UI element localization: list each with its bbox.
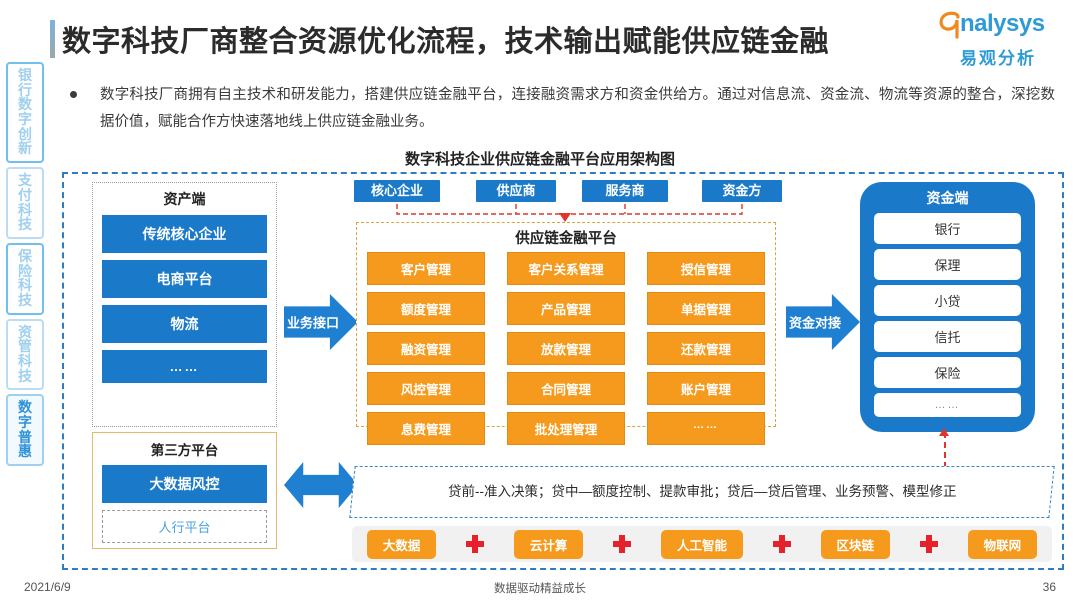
business-interface-label: 业务接口 — [284, 313, 342, 332]
module-customer-management[interactable]: 客户管理 — [367, 252, 485, 285]
sidebar-vertical-tabs[interactable]: 银行数字创新 支付科技 保险科技 资管科技 数字普惠 — [6, 62, 48, 470]
bullet-icon — [70, 91, 77, 98]
module-product-management[interactable]: 产品管理 — [507, 292, 625, 325]
third-party-pboc-platform[interactable]: 人行平台 — [102, 510, 267, 543]
tech-chip-bigdata[interactable]: 大数据 — [367, 530, 437, 559]
module-quota-management[interactable]: 额度管理 — [367, 292, 485, 325]
module-more[interactable]: …… — [647, 412, 765, 445]
plus-icon — [466, 535, 484, 553]
third-party-title: 第三方平台 — [102, 439, 267, 459]
lead-text: 数字科技厂商拥有自主技术和研发能力，搭建供应链金融平台，连接融资需求方和资金供给… — [100, 82, 1055, 136]
loan-lifecycle-text: 贷前--准入决策；贷中—额度控制、提款审批；贷后—贷后管理、业务预警、模型修正 — [434, 482, 971, 502]
tech-chip-blockchain[interactable]: 区块链 — [821, 530, 891, 559]
brand-wordmark: nalysys — [960, 10, 1045, 38]
plus-icon — [613, 535, 631, 553]
module-contract-management[interactable]: 合同管理 — [507, 372, 625, 405]
asset-item-more[interactable]: …… — [102, 350, 267, 383]
asset-side-title: 资产端 — [102, 189, 267, 209]
fund-item-trust[interactable]: 信托 — [874, 321, 1021, 352]
fund-item-insurance[interactable]: 保险 — [874, 357, 1021, 388]
third-party-bigdata-riskcontrol[interactable]: 大数据风控 — [102, 465, 267, 503]
module-disbursement-management[interactable]: 放款管理 — [507, 332, 625, 365]
module-repayment-management[interactable]: 还款管理 — [647, 332, 765, 365]
sidebar-item-label: 数字普惠 — [8, 400, 42, 459]
sidebar-item-label: 保险科技 — [8, 249, 42, 308]
role-connector-lines — [354, 202, 784, 222]
asset-item-core-enterprise[interactable]: 传统核心企业 — [102, 215, 267, 253]
asset-item-logistics[interactable]: 物流 — [102, 305, 267, 343]
module-risk-control-management[interactable]: 风控管理 — [367, 372, 485, 405]
third-party-panel: 第三方平台 大数据风控 人行平台 — [92, 432, 277, 549]
fund-side-panel: 资金端 银行 保理 小贷 信托 保险 …… — [860, 182, 1035, 432]
role-tag-core-enterprise[interactable]: 核心企业 — [354, 180, 440, 202]
fund-docking-label: 资金对接 — [786, 313, 844, 332]
module-account-management[interactable]: 账户管理 — [647, 372, 765, 405]
architecture-diagram: 资产端 传统核心企业 电商平台 物流 …… 第三方平台 大数据风控 人行平台 业… — [62, 172, 1064, 570]
tech-chip-artificial-intelligence[interactable]: 人工智能 — [661, 530, 743, 559]
sidebar-item-label: 银行数字创新 — [8, 68, 42, 156]
tech-chip-cloud-computing[interactable]: 云计算 — [514, 530, 584, 559]
role-tag-service-provider[interactable]: 服务商 — [582, 180, 668, 202]
sidebar-item-asset-management-tech[interactable]: 资管科技 — [6, 319, 44, 391]
platform-title: 供应链金融平台 — [367, 227, 765, 248]
module-batch-processing-management[interactable]: 批处理管理 — [507, 412, 625, 445]
sidebar-item-digital-inclusive-finance[interactable]: 数字普惠 — [6, 394, 44, 466]
fund-docking-arrow-icon: 资金对接 — [786, 294, 860, 350]
footer-tagline: 数据驱动精益成长 — [0, 580, 1080, 596]
role-tag-funder[interactable]: 资金方 — [702, 180, 782, 202]
module-crm[interactable]: 客户关系管理 — [507, 252, 625, 285]
footer-page-number: 36 — [1043, 580, 1056, 594]
tech-chip-iot[interactable]: 物联网 — [968, 530, 1038, 559]
technology-strip: 大数据 云计算 人工智能 区块链 物联网 — [352, 526, 1052, 562]
role-tag-supplier[interactable]: 供应商 — [476, 180, 556, 202]
plus-icon — [773, 535, 791, 553]
page-header: 数字科技厂商整合资源优化流程，技术输出赋能供应链金融 nalysys 易观分析 — [0, 0, 1080, 72]
platform-module-grid: 客户管理 客户关系管理 授信管理 额度管理 产品管理 单据管理 融资管理 放款管… — [367, 252, 765, 445]
fund-side-title: 资金端 — [874, 188, 1021, 208]
fund-item-microloan[interactable]: 小贷 — [874, 285, 1021, 316]
diagram-title: 数字科技企业供应链金融平台应用架构图 — [0, 148, 1080, 169]
lead-paragraph: 数字科技厂商拥有自主技术和研发能力，搭建供应链金融平台，连接融资需求方和资金供给… — [70, 82, 1055, 136]
asset-item-ecommerce-platform[interactable]: 电商平台 — [102, 260, 267, 298]
sidebar-item-label: 支付科技 — [8, 173, 42, 232]
fund-item-bank[interactable]: 银行 — [874, 213, 1021, 244]
sidebar-item-insurance-tech[interactable]: 保险科技 — [6, 243, 44, 315]
bidirectional-arrow-icon — [284, 462, 358, 508]
loan-lifecycle-panel: 贷前--准入决策；贷中—额度控制、提款审批；贷后—贷后管理、业务预警、模型修正 — [349, 466, 1054, 518]
plus-icon — [920, 535, 938, 553]
page-footer: 2021/6/9 数据驱动精益成长 36 — [0, 576, 1080, 608]
fund-uplink-line — [944, 432, 946, 468]
module-financing-management[interactable]: 融资管理 — [367, 332, 485, 365]
asset-side-panel: 资产端 传统核心企业 电商平台 物流 …… — [92, 182, 277, 427]
page-title: 数字科技厂商整合资源优化流程，技术输出赋能供应链金融 — [62, 18, 829, 60]
brand-chinese-name: 易观分析 — [938, 44, 1058, 69]
business-interface-arrow-icon: 业务接口 — [284, 294, 358, 350]
supply-chain-finance-platform-panel: 供应链金融平台 客户管理 客户关系管理 授信管理 额度管理 产品管理 单据管理 … — [356, 222, 776, 427]
brand-logo: nalysys 易观分析 — [938, 10, 1058, 69]
fund-item-factoring[interactable]: 保理 — [874, 249, 1021, 280]
module-document-management[interactable]: 单据管理 — [647, 292, 765, 325]
module-credit-granting[interactable]: 授信管理 — [647, 252, 765, 285]
sidebar-item-payment-tech[interactable]: 支付科技 — [6, 167, 44, 239]
module-interest-fee-management[interactable]: 息费管理 — [367, 412, 485, 445]
fund-item-more[interactable]: …… — [874, 393, 1021, 417]
sidebar-item-label: 资管科技 — [8, 325, 42, 384]
title-accent-bar — [50, 20, 55, 58]
analysys-logo-icon: nalysys — [938, 10, 1058, 40]
arrows-left-right-icon — [284, 462, 358, 508]
